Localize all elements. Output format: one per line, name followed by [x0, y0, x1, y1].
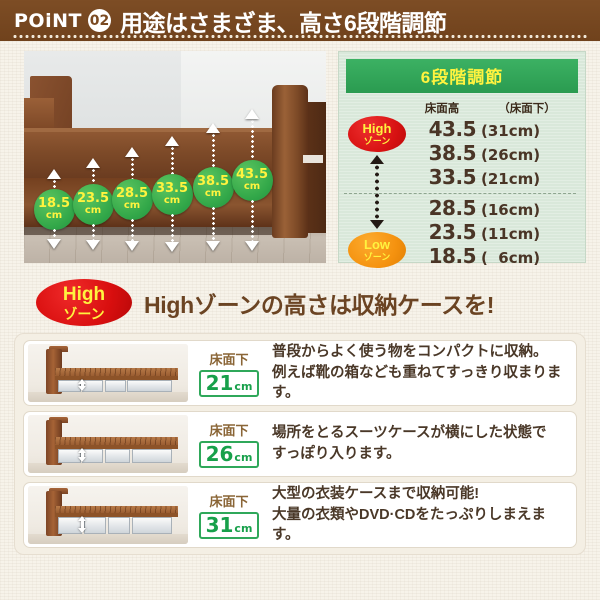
- arrow-down-icon: [206, 241, 220, 251]
- height-arrow-icon: [78, 448, 87, 462]
- height-arrow-icon: [78, 379, 87, 391]
- storage-description: 普段からよく使う物をコンパクトに収納。 例えば靴の箱なども重ねてすっきり収まりま…: [268, 342, 572, 404]
- arrow-stem: [81, 521, 84, 528]
- arrow-up-icon: [165, 136, 179, 146]
- measure-bubble: 28.5 cm: [112, 179, 153, 220]
- banner-high-zone-badge: High ゾーン: [36, 279, 132, 326]
- table-row: 33.5 (21cm): [408, 165, 578, 189]
- storage-box: [105, 380, 126, 392]
- floor-height-value: 38.5: [408, 141, 476, 165]
- floor-height-value: 43.5: [408, 117, 476, 141]
- under-floor-value: (21cm): [476, 170, 578, 188]
- arrow-up-icon: [47, 169, 61, 179]
- high-zone-banner: High ゾーン Highゾーンの高さは収納ケースを!: [0, 273, 600, 333]
- arrow-down-icon: [370, 220, 384, 229]
- storage-description: 場所をとるスーツケースが横にした状態で すっぽり入ります。: [268, 423, 572, 464]
- description-line: 大量の衣類やDVD·CDをたっぷりしまえます。: [272, 505, 572, 546]
- point-number-badge: 02: [88, 9, 111, 32]
- storage-row: 床面下 26 cm 場所をとるスーツケースが横にした状態で すっぽり入ります。: [23, 411, 577, 477]
- measure-value: 18.5: [38, 197, 70, 210]
- measure-bubble: 23.5 cm: [73, 184, 114, 225]
- arrow-down-icon: [78, 457, 86, 462]
- storage-examples-card: 床面下 21 cm 普段からよく使う物をコンパクトに収納。 例えば靴の箱なども重…: [14, 333, 586, 555]
- under-floor-unit: cm: [234, 523, 252, 534]
- storage-description: 大型の衣装ケースまで収納可能! 大量の衣類やDVD·CDをたっぷりしまえます。: [268, 484, 572, 546]
- under-floor-value: (11cm): [476, 225, 578, 243]
- storage-box: [127, 380, 172, 392]
- table-row: 23.5 (11cm): [408, 220, 578, 244]
- measure-value: 28.5: [116, 187, 148, 200]
- under-floor-value-box: 31 cm: [199, 512, 260, 539]
- storage-box: [105, 449, 131, 463]
- dotted-line: [212, 206, 215, 242]
- high-zone-badge-jp: ゾーン: [364, 137, 391, 146]
- height-arrow-icon: [78, 516, 87, 533]
- measure-value: 43.5: [236, 168, 268, 181]
- description-line: 例えば靴の箱なども重ねてすっきり収まります。: [272, 363, 572, 404]
- low-zone-badge-en: Low: [364, 238, 390, 251]
- under-floor-value-box: 26 cm: [199, 441, 260, 468]
- low-zone-badge-jp: ゾーン: [364, 253, 391, 262]
- under-floor-number: 26: [206, 444, 234, 464]
- storage-row: 床面下 21 cm 普段からよく使う物をコンパクトに収納。 例えば靴の箱なども重…: [23, 340, 577, 406]
- measure-unit: cm: [124, 201, 140, 211]
- measure-value: 38.5: [197, 175, 229, 188]
- bed-storage-thumbnail: [28, 344, 188, 402]
- banner-heading: Highゾーンの高さは収納ケースを!: [144, 286, 494, 320]
- dotted-line: [171, 213, 174, 243]
- under-floor-value: (31cm): [476, 122, 578, 140]
- measure-marker-3: 28.5 cm: [112, 147, 152, 251]
- under-floor-value: (26cm): [476, 146, 578, 164]
- measure-marker-6: 43.5 cm: [232, 109, 272, 251]
- measure-value: 23.5: [77, 192, 109, 205]
- high-zone-badge: High ゾーン: [348, 116, 406, 152]
- under-floor-unit: cm: [234, 452, 252, 463]
- arrow-up-icon: [370, 155, 384, 164]
- storage-box: [84, 517, 106, 534]
- measure-unit: cm: [85, 206, 101, 216]
- dotted-line: [92, 168, 95, 186]
- description-line: 場所をとるスーツケースが横にした状態で: [272, 423, 572, 444]
- table-row: 38.5 (26cm): [408, 141, 578, 165]
- panel-body: High ゾーン Low ゾーン 床面高 （床面下）: [346, 93, 578, 268]
- arrow-down-icon: [245, 241, 259, 251]
- measure-marker-2: 23.5 cm: [73, 158, 113, 250]
- arrow-down-icon: [125, 241, 139, 251]
- under-floor-value: ( 6cm): [476, 249, 578, 267]
- measure-bubble: 38.5 cm: [193, 167, 234, 208]
- under-floor-label: 床面下: [209, 349, 248, 368]
- measure-value: 33.5: [156, 182, 188, 195]
- dotted-line: [53, 228, 56, 240]
- point-header: POiNT 02 用途はさまざま、高さ6段階調節: [0, 0, 600, 41]
- floor-height-value: 33.5: [408, 165, 476, 189]
- measure-marker-4: 33.5 cm: [152, 136, 192, 252]
- under-floor-number: 31: [206, 515, 234, 535]
- dotted-line: [92, 223, 95, 241]
- arrow-down-icon: [78, 386, 86, 391]
- measure-unit: cm: [164, 196, 180, 206]
- measure-bubble: 43.5 cm: [232, 160, 273, 201]
- storage-box: [108, 517, 130, 534]
- under-floor-measure: 床面下 31 cm: [196, 491, 262, 539]
- panel-title: 6段階調節: [346, 59, 578, 93]
- point-word-label: POiNT: [14, 10, 82, 32]
- under-floor-label: 床面下: [209, 420, 248, 439]
- description-line: 大型の衣装ケースまで収納可能!: [272, 484, 572, 505]
- arrow-up-icon: [245, 109, 259, 119]
- floor-height-value: 18.5: [408, 244, 476, 268]
- column-header-under-floor: （床面下）: [476, 100, 578, 116]
- column-header-floor-height: 床面高: [408, 100, 476, 116]
- storage-box: [132, 517, 172, 534]
- under-floor-value: (16cm): [476, 201, 578, 219]
- measure-unit: cm: [205, 189, 221, 199]
- arrow-down-icon: [78, 528, 86, 533]
- height-adjustment-panel: 6段階調節 High ゾーン Low ゾーン 床面高: [338, 51, 586, 263]
- dotted-line: [131, 218, 134, 242]
- dotted-line: [131, 157, 134, 181]
- description-line: 普段からよく使う物をコンパクトに収納。: [272, 342, 572, 363]
- storage-box: [132, 449, 172, 463]
- banner-badge-en: High: [63, 285, 105, 304]
- zone-column: High ゾーン Low ゾーン: [346, 100, 408, 268]
- bed-side-photo: 18.5 cm 23.5 cm 28.5 cm: [24, 51, 326, 263]
- dotted-line: [251, 119, 254, 162]
- under-floor-label: 床面下: [209, 491, 248, 510]
- arrow-down-icon: [47, 239, 61, 249]
- under-floor-unit: cm: [234, 381, 252, 392]
- top-section: 18.5 cm 23.5 cm 28.5 cm: [0, 41, 600, 273]
- under-floor-measure: 床面下 26 cm: [196, 420, 262, 468]
- measure-bubble: 18.5 cm: [34, 189, 75, 230]
- table-row: 18.5 ( 6cm): [408, 244, 578, 268]
- bed-storage-thumbnail: [28, 415, 188, 473]
- photo-headboard-shelf: [24, 98, 54, 132]
- floor-height-value: 28.5: [408, 196, 476, 220]
- arrow-up-icon: [86, 158, 100, 168]
- arrow-up-icon: [125, 147, 139, 157]
- header-dotted-rule: [12, 35, 588, 38]
- arrow-down-icon: [165, 242, 179, 252]
- page-title: 用途はさまざま、高さ6段階調節: [120, 4, 446, 38]
- dotted-line: [171, 146, 174, 176]
- measure-marker-5: 38.5 cm: [193, 123, 233, 251]
- dotted-line: [251, 199, 254, 242]
- zone-divider: [408, 189, 578, 196]
- arrow-down-icon: [86, 240, 100, 250]
- measure-bubble: 33.5 cm: [152, 174, 193, 215]
- low-zone-badge: Low ゾーン: [348, 232, 406, 268]
- description-line: すっぽり入ります。: [272, 444, 572, 465]
- storage-row: 床面下 31 cm 大型の衣装ケースまで収納可能! 大量の衣類やDVD·CDをた…: [23, 482, 577, 548]
- under-floor-value-box: 21 cm: [199, 370, 260, 397]
- thumb-slats: [55, 368, 178, 376]
- values-column: 床面高 （床面下） 43.5 (31cm) 38.5 (26cm) 33.5 (…: [408, 100, 578, 268]
- table-header-row: 床面高 （床面下）: [408, 100, 578, 117]
- under-floor-number: 21: [206, 373, 234, 393]
- under-floor-measure: 床面下 21 cm: [196, 349, 262, 397]
- high-zone-badge-en: High: [363, 122, 392, 135]
- thumb-slats: [55, 506, 178, 514]
- floor-height-value: 23.5: [408, 220, 476, 244]
- banner-badge-jp: ゾーン: [63, 307, 104, 321]
- dotted-line: [212, 133, 215, 169]
- bed-storage-thumbnail: [28, 486, 188, 544]
- measure-marker-1: 18.5 cm: [34, 169, 74, 249]
- table-row: 43.5 (31cm): [408, 117, 578, 141]
- photo-panel-slot: [303, 155, 323, 163]
- arrow-up-icon: [206, 123, 220, 133]
- thumb-slats: [55, 437, 178, 445]
- measure-unit: cm: [244, 182, 260, 192]
- measure-unit: cm: [46, 211, 62, 221]
- table-row: 28.5 (16cm): [408, 196, 578, 220]
